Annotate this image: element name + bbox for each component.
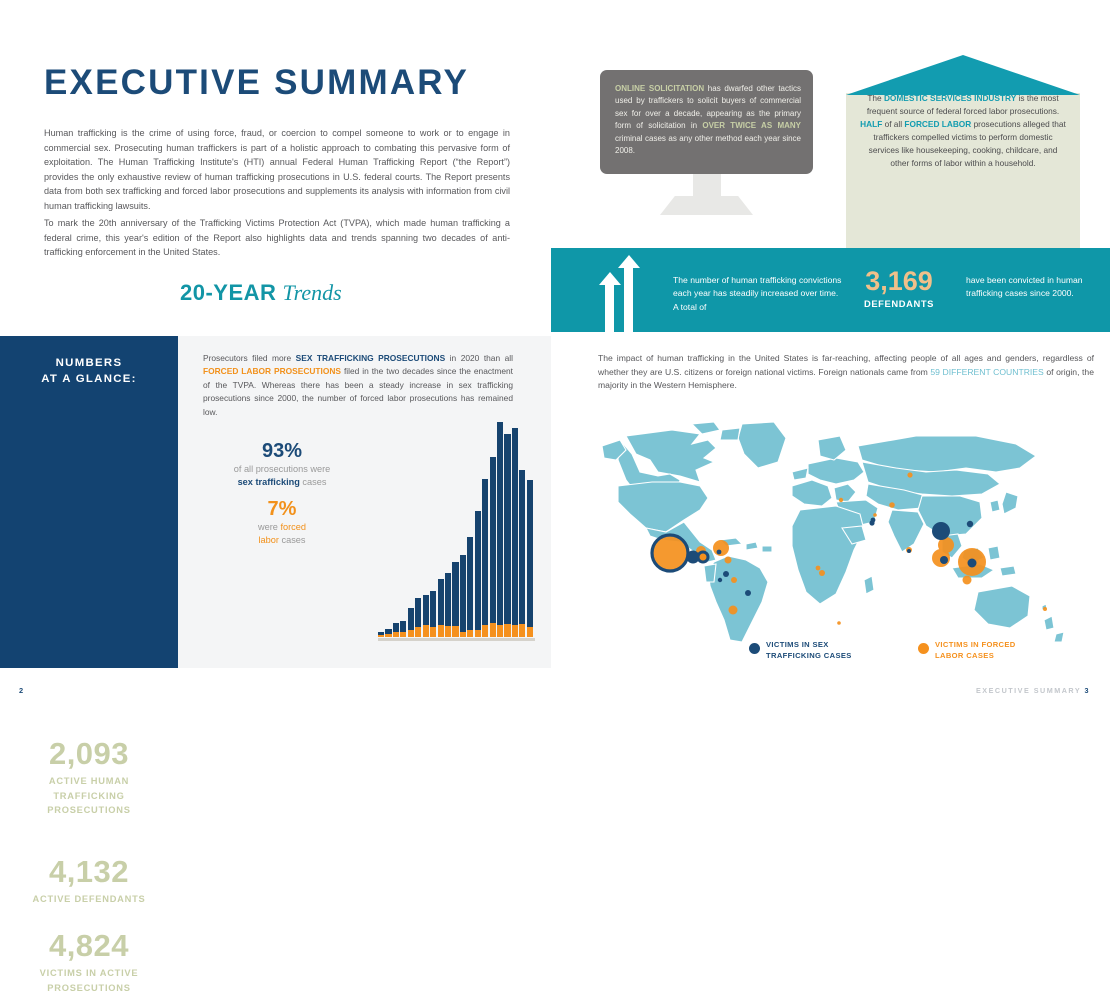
bar-2006 <box>423 595 429 637</box>
trends-heading-bold: 20-YEAR <box>180 280 276 305</box>
bar-segment-sex-trafficking <box>475 511 481 630</box>
bar-segment-sex-trafficking <box>452 562 458 626</box>
legend-dot-icon <box>918 643 929 654</box>
footer-page-number-left: 2 <box>19 686 23 695</box>
bar-segment-forced-labor <box>519 624 525 637</box>
bar-segment-forced-labor <box>467 630 473 637</box>
bar-segment-forced-labor <box>423 625 429 637</box>
right-page: ONLINE SOLICITATION has dwarfed other ta… <box>551 0 1110 711</box>
bar-segment-forced-labor <box>378 635 384 637</box>
convictions-text-after: have been convicted in human trafficking… <box>966 274 1101 301</box>
footer-right: EXECUTIVE SUMMARY 3 <box>976 686 1090 695</box>
bar-segment-forced-labor <box>385 634 391 637</box>
bar-2013 <box>475 511 481 637</box>
bar-segment-sex-trafficking <box>400 621 406 632</box>
arrow-up-short-icon <box>605 283 614 332</box>
bar-segment-forced-labor <box>497 625 503 637</box>
bar-segment-forced-labor <box>482 625 488 637</box>
stat-active-prosecutions: 2,093 ACTIVE HUMANTRAFFICKINGPROSECUTION… <box>0 736 178 818</box>
stat-active-defendants: 4,132 ACTIVE DEFENDANTS <box>0 854 178 907</box>
bar-segment-sex-trafficking <box>393 623 399 632</box>
online-solicitation-text: ONLINE SOLICITATION has dwarfed other ta… <box>615 83 801 157</box>
numbers-at-a-glance-panel: NUMBERS AT A GLANCE: 2,093 ACTIVE HUMANT… <box>0 336 178 668</box>
bar-segment-sex-trafficking <box>527 480 533 627</box>
bar-2003 <box>400 621 406 637</box>
stacked-bar-chart <box>378 416 533 641</box>
bar-segment-sex-trafficking <box>438 579 444 625</box>
monitor-stand-base <box>660 196 753 215</box>
bar-chart-bars <box>378 418 533 637</box>
bar-segment-sex-trafficking <box>497 422 503 625</box>
bar-segment-sex-trafficking <box>415 598 421 627</box>
bar-segment-forced-labor <box>475 630 481 637</box>
bar-segment-forced-labor <box>490 623 496 637</box>
bar-2005 <box>415 598 421 637</box>
bar-segment-sex-trafficking <box>467 537 473 630</box>
bar-2018 <box>512 428 518 637</box>
pct-labor-label-rest: cases <box>279 535 306 545</box>
pct-sex-label-bold: sex trafficking <box>238 477 300 487</box>
bar-segment-forced-labor <box>415 627 421 637</box>
stat-victims-in-active-prosecutions: 4,824 VICTIMS IN ACTIVEPROSECUTIONS <box>0 928 178 995</box>
bar-2004 <box>408 608 414 637</box>
bar-2000 <box>378 632 384 637</box>
stat-value: 4,132 <box>0 854 178 890</box>
bar-segment-sex-trafficking <box>408 608 414 629</box>
pct-labor-label: were forced labor cases <box>202 521 362 548</box>
bar-2011 <box>460 555 466 637</box>
bar-segment-forced-labor <box>430 627 436 637</box>
bar-2019 <box>519 470 525 637</box>
stat-value: 2,093 <box>0 736 178 772</box>
upward-arrows-icon <box>601 248 681 332</box>
stat-label: VICTIMS IN ACTIVEPROSECUTIONS <box>0 966 178 995</box>
bar-2010 <box>452 562 458 637</box>
house-roof <box>846 55 1080 95</box>
bar-segment-forced-labor <box>527 627 533 637</box>
pct-labor-label-bold2: labor <box>259 535 279 545</box>
bar-segment-sex-trafficking <box>490 457 496 623</box>
numbers-panel-title-line1: NUMBERS <box>56 357 123 369</box>
convictions-text-before: The number of human trafficking convicti… <box>673 274 843 314</box>
legend-label: VICTIMS IN FORCEDLABOR CASES <box>935 640 1016 661</box>
bar-2014 <box>482 479 488 637</box>
bar-2009 <box>445 573 451 637</box>
bar-2017 <box>504 434 510 637</box>
intro-paragraph-1: Human trafficking is the crime of using … <box>44 126 510 214</box>
bar-2008 <box>438 579 444 637</box>
convictions-stat: 3,169 DEFENDANTS <box>844 264 954 309</box>
prosecutions-chart-panel: Prosecutors filed more SEX TRAFFICKING P… <box>178 336 551 668</box>
bar-chart-baseline <box>378 638 535 641</box>
legend-dot-icon <box>749 643 760 654</box>
bar-segment-forced-labor <box>460 632 466 637</box>
monitor-screen: ONLINE SOLICITATION has dwarfed other ta… <box>600 70 813 174</box>
bar-segment-forced-labor <box>512 625 518 637</box>
pct-sex-trafficking-callout: 93% of all prosecutions were sex traffic… <box>202 439 362 490</box>
stat-label: ACTIVE HUMANTRAFFICKINGPROSECUTIONS <box>0 774 178 818</box>
pct-forced-labor-callout: 7% were forced labor cases <box>202 497 362 548</box>
bar-2012 <box>467 537 473 637</box>
pct-labor-value: 7% <box>202 497 362 521</box>
bar-segment-forced-labor <box>408 630 414 637</box>
footer-page-number-right: 3 <box>1085 686 1091 695</box>
bar-2002 <box>393 623 399 637</box>
bar-2020 <box>527 480 533 637</box>
bar-segment-sex-trafficking <box>445 573 451 626</box>
map-legend: VICTIMS IN SEXTRAFFICKING CASES VICTIMS … <box>749 640 1079 666</box>
house-icon: The DOMESTIC SERVICES INDUSTRY is the mo… <box>846 55 1080 248</box>
arrow-up-tall-icon <box>624 266 633 332</box>
legend-label: VICTIMS IN SEXTRAFFICKING CASES <box>766 640 852 661</box>
left-page: EXECUTIVE SUMMARY Human trafficking is t… <box>0 0 551 711</box>
bar-segment-forced-labor <box>393 632 399 637</box>
world-map <box>596 410 1096 645</box>
numbers-panel-title: NUMBERS AT A GLANCE: <box>0 355 178 387</box>
bar-2016 <box>497 422 503 637</box>
pct-sex-label-rest: cases <box>300 477 327 487</box>
pct-sex-label: of all prosecutions were sex trafficking… <box>202 463 362 490</box>
pct-labor-label-bold1: forced <box>280 522 306 532</box>
footer-section-label: EXECUTIVE SUMMARY <box>976 686 1081 695</box>
bar-segment-sex-trafficking <box>504 434 510 623</box>
bar-segment-sex-trafficking <box>482 479 488 625</box>
bar-segment-forced-labor <box>445 626 451 637</box>
bar-segment-sex-trafficking <box>430 591 436 627</box>
bar-segment-sex-trafficking <box>512 428 518 625</box>
convictions-stat-value: 3,169 <box>844 264 954 298</box>
bar-2015 <box>490 457 496 637</box>
intro-paragraph-2: To mark the 20th anniversary of the Traf… <box>44 216 510 260</box>
bar-segment-sex-trafficking <box>423 595 429 625</box>
pct-sex-value: 93% <box>202 439 362 463</box>
trends-heading: 20-YEAR Trends <box>180 280 342 306</box>
bar-segment-sex-trafficking <box>519 470 525 624</box>
bar-segment-forced-labor <box>504 624 510 637</box>
chart-intro-paragraph: Prosecutors filed more SEX TRAFFICKING P… <box>203 352 513 419</box>
pct-labor-label-plain: were <box>258 522 280 532</box>
bar-segment-forced-labor <box>438 625 444 637</box>
page-title: EXECUTIVE SUMMARY <box>44 63 469 103</box>
map-intro-paragraph: The impact of human trafficking in the U… <box>598 352 1094 393</box>
convictions-stat-label: DEFENDANTS <box>844 298 954 309</box>
trends-heading-italic: Trends <box>283 280 342 305</box>
bar-segment-forced-labor <box>452 626 458 637</box>
stat-label: ACTIVE DEFENDANTS <box>0 892 178 907</box>
monitor-icon: ONLINE SOLICITATION has dwarfed other ta… <box>600 70 828 230</box>
stat-value: 4,824 <box>0 928 178 964</box>
bar-segment-sex-trafficking <box>460 555 466 632</box>
convictions-banner: The number of human trafficking convicti… <box>551 248 1110 332</box>
bar-2001 <box>385 629 391 637</box>
numbers-panel-title-line2: AT A GLANCE: <box>41 373 137 385</box>
domestic-services-text: The DOMESTIC SERVICES INDUSTRY is the mo… <box>860 92 1066 171</box>
bar-segment-forced-labor <box>400 632 406 637</box>
pct-sex-label-line1: of all prosecutions were <box>234 464 331 474</box>
bar-2007 <box>430 591 436 637</box>
